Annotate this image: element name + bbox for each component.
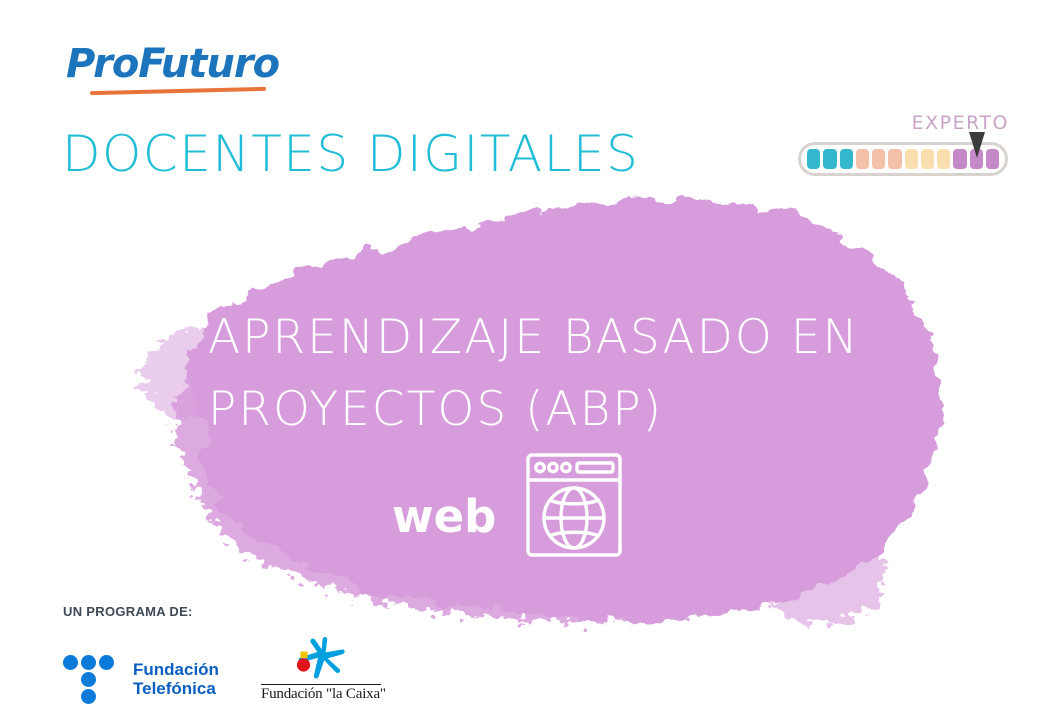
telefonica-dots-icon <box>63 655 121 703</box>
course-headline-line-1: APRENDIZAJE BASADO EN <box>208 302 888 374</box>
profuturo-logo: ProFuturo <box>66 42 286 104</box>
telefonica-name-line-2: Telefónica <box>133 679 219 698</box>
level-marker-arrow-icon <box>969 132 985 158</box>
telefonica-name-line-1: Fundación <box>133 660 219 679</box>
progress-segment-3 <box>840 149 853 169</box>
browser-globe-icon <box>522 450 626 560</box>
profuturo-wordmark: ProFuturo <box>66 42 286 86</box>
course-headline-line-2: PROYECTOS (ABP) <box>208 374 888 446</box>
footer-caption: UN PROGRAMA DE: <box>63 604 403 619</box>
progress-segment-10 <box>953 149 966 169</box>
progress-segment-5 <box>872 149 885 169</box>
course-format-badge: web <box>392 445 642 565</box>
slide-canvas: ProFuturo DOCENTES DIGITALES EXPERTO <box>0 0 1040 720</box>
progress-segment-8 <box>921 149 934 169</box>
level-label: EXPERTO <box>912 112 1009 134</box>
progress-segment-4 <box>856 149 869 169</box>
footer: UN PROGRAMA DE: Fundación Telefónica <box>63 604 403 704</box>
sponsor-logos: Fundación Telefónica Fundación "la Caixa… <box>63 634 381 703</box>
progress-segment-6 <box>888 149 901 169</box>
la-caixa-star-icon <box>261 634 381 682</box>
profuturo-underline-accent <box>90 87 266 95</box>
progress-segment-7 <box>905 149 918 169</box>
progress-segment-2 <box>823 149 836 169</box>
fundacion-telefonica-logo: Fundación Telefónica <box>63 655 219 703</box>
course-headline: APRENDIZAJE BASADO EN PROYECTOS (ABP) <box>208 302 888 446</box>
level-indicator: EXPERTO <box>795 112 1015 176</box>
progress-segment-9 <box>937 149 950 169</box>
progress-segment-12 <box>986 149 999 169</box>
course-format-label: web <box>392 493 496 541</box>
progress-segment-1 <box>807 149 820 169</box>
fundacion-la-caixa-logo: Fundación "la Caixa" <box>261 634 381 703</box>
fundacion-la-caixa-wordmark: Fundación "la Caixa" <box>261 684 381 703</box>
fundacion-telefonica-wordmark: Fundación Telefónica <box>133 660 219 698</box>
